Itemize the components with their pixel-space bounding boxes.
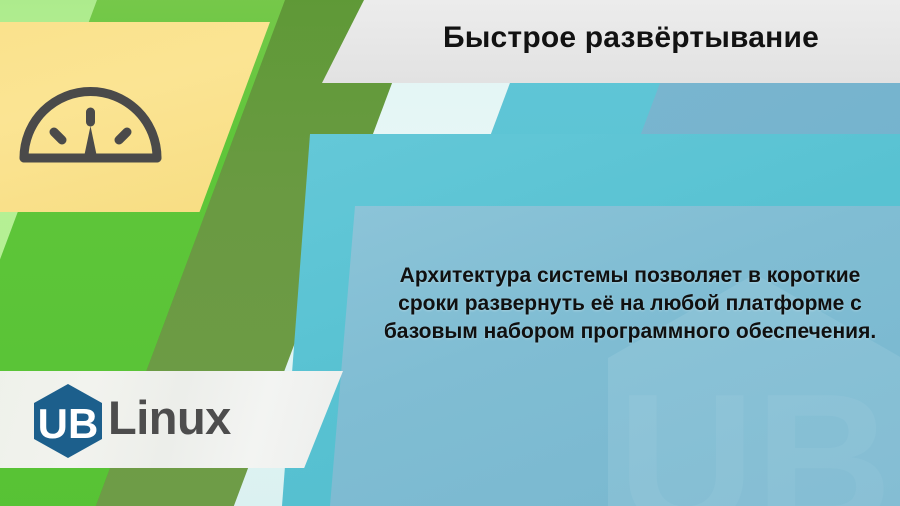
title-banner: Быстрое развёртывание bbox=[322, 0, 900, 83]
page-title: Быстрое развёртывание bbox=[322, 21, 900, 55]
gauge-icon bbox=[18, 74, 163, 164]
logo-wordmark: Linux bbox=[108, 390, 231, 445]
svg-text:UB: UB bbox=[618, 355, 892, 506]
body-text: Архитектура системы позволяет в короткие… bbox=[380, 262, 880, 346]
ub-hexagon-logo-icon: UB bbox=[30, 383, 106, 459]
slide-canvas: UB Архитектура системы позволяет в корот… bbox=[0, 0, 900, 506]
logo-banner: UB Linux bbox=[0, 371, 343, 468]
content-panel-inner: UB bbox=[330, 206, 900, 506]
logo-mark-text: UB bbox=[38, 400, 99, 447]
